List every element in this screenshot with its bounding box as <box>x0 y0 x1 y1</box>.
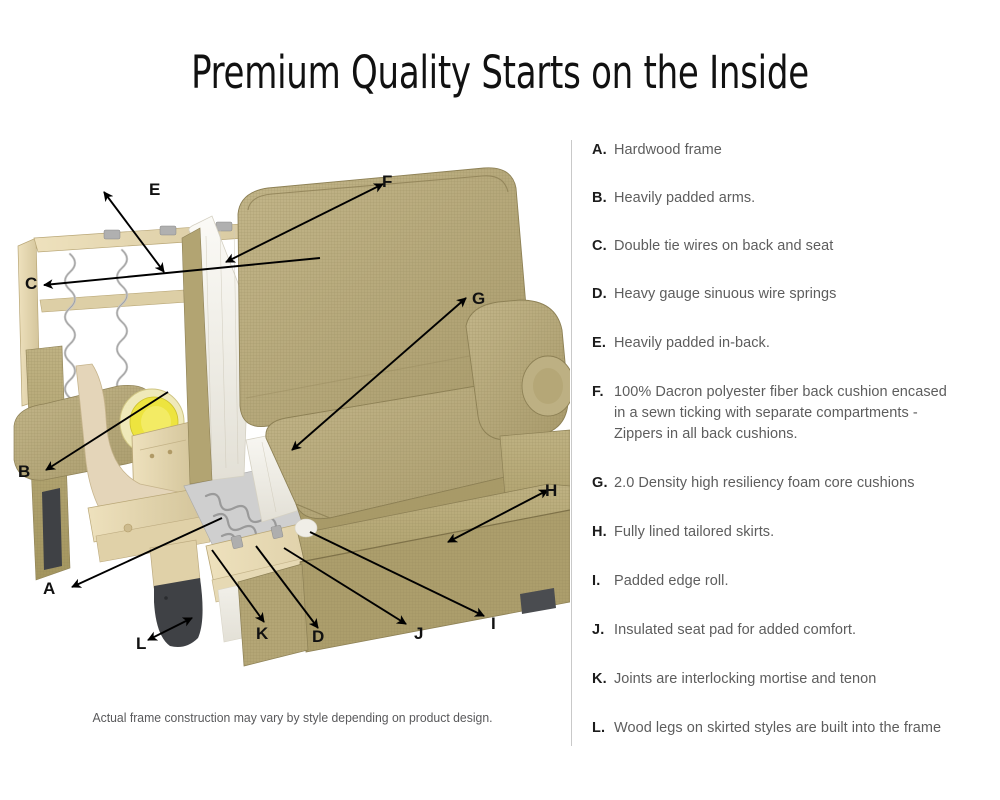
legend-item-b: B. Heavily padded arms. <box>592 188 992 236</box>
callout-letter-K: K <box>256 625 268 642</box>
infographic-page: Premium Quality Starts on the Inside <box>0 0 1000 800</box>
legend-text-e: Heavily padded in-back. <box>612 333 992 354</box>
legend-text-c: Double tie wires on back and seat <box>612 236 992 257</box>
left-arm-assembly <box>14 346 210 647</box>
legend-letter-d: D. <box>592 284 612 305</box>
legend-letter-a: A. <box>592 140 612 161</box>
legend-item-f: F. 100% Dacron polyester fiber back cush… <box>592 382 992 473</box>
callout-letter-J: J <box>414 625 423 642</box>
vertical-divider <box>571 140 572 746</box>
chair-diagram: E F C G B H A I J D K L <box>0 150 570 670</box>
callout-letter-D: D <box>312 628 324 645</box>
legend-letter-l: L. <box>592 718 612 739</box>
legend-letter-k: K. <box>592 669 612 690</box>
legend-text-k: Joints are interlocking mortise and teno… <box>612 669 992 690</box>
legend-text-f: 100% Dacron polyester fiber back cushion… <box>612 382 949 445</box>
callout-letter-I: I <box>491 615 496 632</box>
legend-text-l: Wood legs on skirted styles are built in… <box>612 718 992 739</box>
legend-text-g: 2.0 Density high resiliency foam core cu… <box>612 473 992 494</box>
callout-letter-C: C <box>25 275 37 292</box>
page-title: Premium Quality Starts on the Inside <box>80 46 920 100</box>
callout-letter-H: H <box>545 482 557 499</box>
legend-item-g: G. 2.0 Density high resiliency foam core… <box>592 473 992 522</box>
legend-text-h: Fully lined tailored skirts. <box>612 522 992 543</box>
feature-legend-list: A. Hardwood frame B. Heavily padded arms… <box>592 140 992 758</box>
legend-letter-j: J. <box>592 620 612 641</box>
legend-text-i: Padded edge roll. <box>612 571 992 592</box>
legend-letter-f: F. <box>592 382 612 403</box>
legend-item-d: D. Heavy gauge sinuous wire springs <box>592 284 992 333</box>
legend-letter-b: B. <box>592 188 612 209</box>
callout-letter-B: B <box>18 463 30 480</box>
callout-letter-A: A <box>43 580 55 597</box>
legend-letter-g: G. <box>592 473 612 494</box>
callout-letter-G: G <box>472 290 485 307</box>
legend-item-c: C. Double tie wires on back and seat <box>592 236 992 284</box>
legend-letter-e: E. <box>592 333 612 354</box>
callout-letter-L: L <box>136 635 146 652</box>
callout-letter-E: E <box>149 181 160 198</box>
legend-item-l: L. Wood legs on skirted styles are built… <box>592 718 992 758</box>
legend-text-d: Heavy gauge sinuous wire springs <box>612 284 992 305</box>
legend-item-a: A. Hardwood frame <box>592 140 992 188</box>
legend-item-e: E. Heavily padded in-back. <box>592 333 992 382</box>
legend-letter-h: H. <box>592 522 612 543</box>
legend-text-j: Insulated seat pad for added comfort. <box>612 620 992 641</box>
legend-letter-c: C. <box>592 236 612 257</box>
diagram-caption: Actual frame construction may vary by st… <box>55 709 530 727</box>
callout-letter-F: F <box>382 173 392 190</box>
legend-text-a: Hardwood frame <box>612 140 992 161</box>
legend-text-b: Heavily padded arms. <box>612 188 992 209</box>
legend-item-k: K. Joints are interlocking mortise and t… <box>592 669 992 718</box>
legend-item-h: H. Fully lined tailored skirts. <box>592 522 992 571</box>
legend-item-j: J. Insulated seat pad for added comfort. <box>592 620 992 669</box>
legend-item-i: I. Padded edge roll. <box>592 571 992 620</box>
legend-letter-i: I. <box>592 571 612 592</box>
